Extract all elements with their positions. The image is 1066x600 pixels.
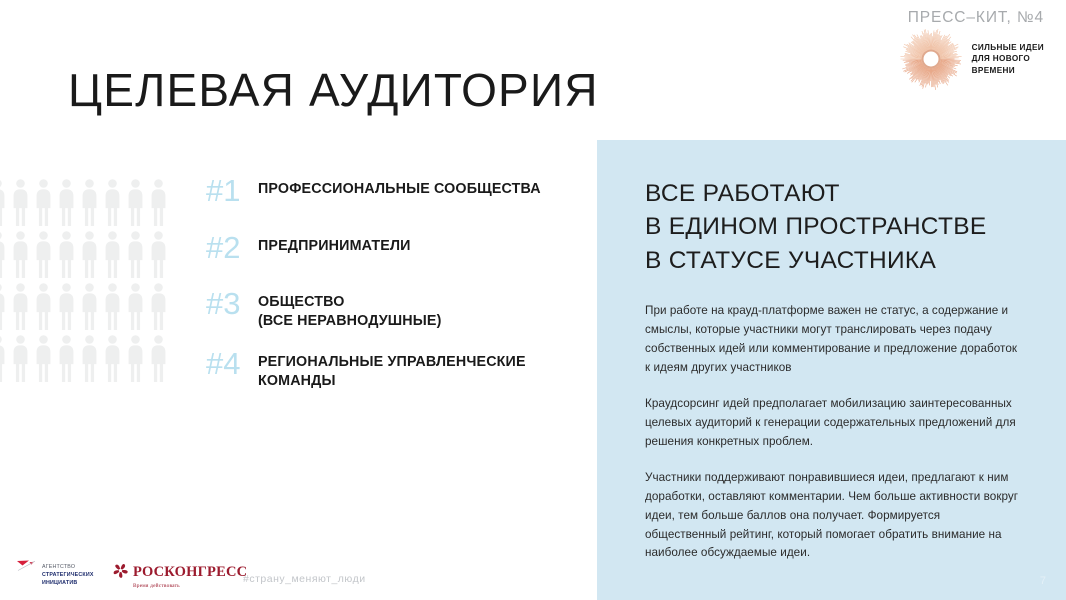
- person-icon: [0, 280, 9, 332]
- footer: АГЕНТСТВОСТРАТЕГИЧЕСКИХИНИЦИАТИВ РОСКОНГ…: [0, 542, 597, 600]
- audience-number: #1: [206, 176, 258, 206]
- panel-heading: ВСЕ РАБОТАЮТ В ЕДИНОМ ПРОСТРАНСТВЕ В СТА…: [645, 177, 987, 277]
- roscongress-logo: РОСКОНГРЕСС Время действовать: [113, 563, 247, 589]
- person-icon: [9, 332, 32, 384]
- asi-line-3: ИНИЦИАТИВ: [42, 580, 77, 586]
- asi-wordmark: АГЕНТСТВОСТРАТЕГИЧЕСКИХИНИЦИАТИВ: [42, 559, 94, 588]
- info-panel: ВСЕ РАБОТАЮТ В ЕДИНОМ ПРОСТРАНСТВЕ В СТА…: [597, 140, 1066, 600]
- asi-arrow-icon: [16, 559, 38, 578]
- list-item: #1 ПРОФЕССИОНАЛЬНЫЕ СООБЩЕСТВА: [206, 176, 596, 206]
- audience-label: ОБЩЕСТВО (ВСЕ НЕРАВНОДУШНЫЕ): [258, 289, 596, 331]
- audience-list: #1 ПРОФЕССИОНАЛЬНЫЕ СООБЩЕСТВА #2 ПРЕДПР…: [206, 176, 596, 391]
- roscongress-wordmark: РОСКОНГРЕСС: [133, 564, 247, 580]
- person-icon: [124, 228, 147, 280]
- person-icon: [32, 280, 55, 332]
- person-icon: [0, 332, 9, 384]
- person-icon: [32, 176, 55, 228]
- person-icon: [9, 228, 32, 280]
- slide-canvas: ПРЕСС–КИТ, №4 СИЛЬНЫЕ ИДЕИ ДЛЯ НОВОГО ВР…: [0, 0, 1066, 600]
- person-icon: [124, 280, 147, 332]
- radial-sunburst-logo-icon: [900, 28, 962, 90]
- list-item: #4 РЕГИОНАЛЬНЫЕ УПРАВЛЕНЧЕСКИЕ КОМАНДЫ: [206, 349, 596, 391]
- hashtag-label: #страну_меняют_люди: [243, 573, 366, 585]
- audience-number: #3: [206, 289, 258, 319]
- person-icon: [78, 332, 101, 384]
- asi-logo: АГЕНТСТВОСТРАТЕГИЧЕСКИХИНИЦИАТИВ: [16, 559, 94, 588]
- person-icon: [101, 228, 124, 280]
- audience-label: ПРЕДПРИНИМАТЕЛИ: [258, 233, 596, 256]
- person-icon: [78, 228, 101, 280]
- person-icon: [147, 176, 170, 228]
- person-icon: [78, 280, 101, 332]
- person-icon: [147, 228, 170, 280]
- audience-label: ПРОФЕССИОНАЛЬНЫЕ СООБЩЕСТВА: [258, 176, 596, 199]
- person-icon: [55, 228, 78, 280]
- brand-tagline: СИЛЬНЫЕ ИДЕИ ДЛЯ НОВОГО ВРЕМЕНИ: [972, 42, 1044, 77]
- list-item: #3 ОБЩЕСТВО (ВСЕ НЕРАВНОДУШНЫЕ): [206, 289, 596, 331]
- roscongress-text-block: РОСКОНГРЕСС Время действовать: [133, 563, 247, 589]
- person-icon: [9, 280, 32, 332]
- panel-paragraph: Участники поддерживают понравившиеся иде…: [645, 469, 1020, 564]
- person-icon: [32, 228, 55, 280]
- person-icon: [124, 176, 147, 228]
- person-icon: [55, 176, 78, 228]
- person-icon: [0, 228, 9, 280]
- person-icon: [147, 332, 170, 384]
- panel-paragraph: При работе на крауд-платформе важен не с…: [645, 302, 1020, 378]
- person-icon: [101, 332, 124, 384]
- panel-paragraph: Краудсорсинг идей предполагает мобилизац…: [645, 395, 1020, 452]
- page-number: 7: [1040, 575, 1046, 587]
- brand-lockup: СИЛЬНЫЕ ИДЕИ ДЛЯ НОВОГО ВРЕМЕНИ: [900, 28, 1044, 90]
- list-item: #2 ПРЕДПРИНИМАТЕЛИ: [206, 233, 596, 263]
- presskit-label: ПРЕСС–КИТ, №4: [908, 9, 1044, 27]
- roscongress-tagline: Время действовать: [133, 583, 247, 589]
- person-icon: [55, 332, 78, 384]
- person-icon: [147, 280, 170, 332]
- audience-label: РЕГИОНАЛЬНЫЕ УПРАВЛЕНЧЕСКИЕ КОМАНДЫ: [258, 349, 596, 391]
- audience-number: #4: [206, 349, 258, 379]
- panel-body: При работе на крауд-платформе важен не с…: [645, 302, 1020, 563]
- audience-number: #2: [206, 233, 258, 263]
- person-icon: [101, 176, 124, 228]
- person-icon: [55, 280, 78, 332]
- asi-line-2: СТРАТЕГИЧЕСКИХ: [42, 572, 94, 578]
- roscongress-pinwheel-icon: [113, 563, 128, 583]
- people-pictogram-grid: [0, 176, 170, 384]
- person-icon: [9, 176, 32, 228]
- asi-line-1: АГЕНТСТВО: [42, 564, 75, 570]
- page-title: ЦЕЛЕВАЯ АУДИТОРИЯ: [68, 67, 599, 113]
- person-icon: [78, 176, 101, 228]
- person-icon: [0, 176, 9, 228]
- person-icon: [124, 332, 147, 384]
- person-icon: [101, 280, 124, 332]
- person-icon: [32, 332, 55, 384]
